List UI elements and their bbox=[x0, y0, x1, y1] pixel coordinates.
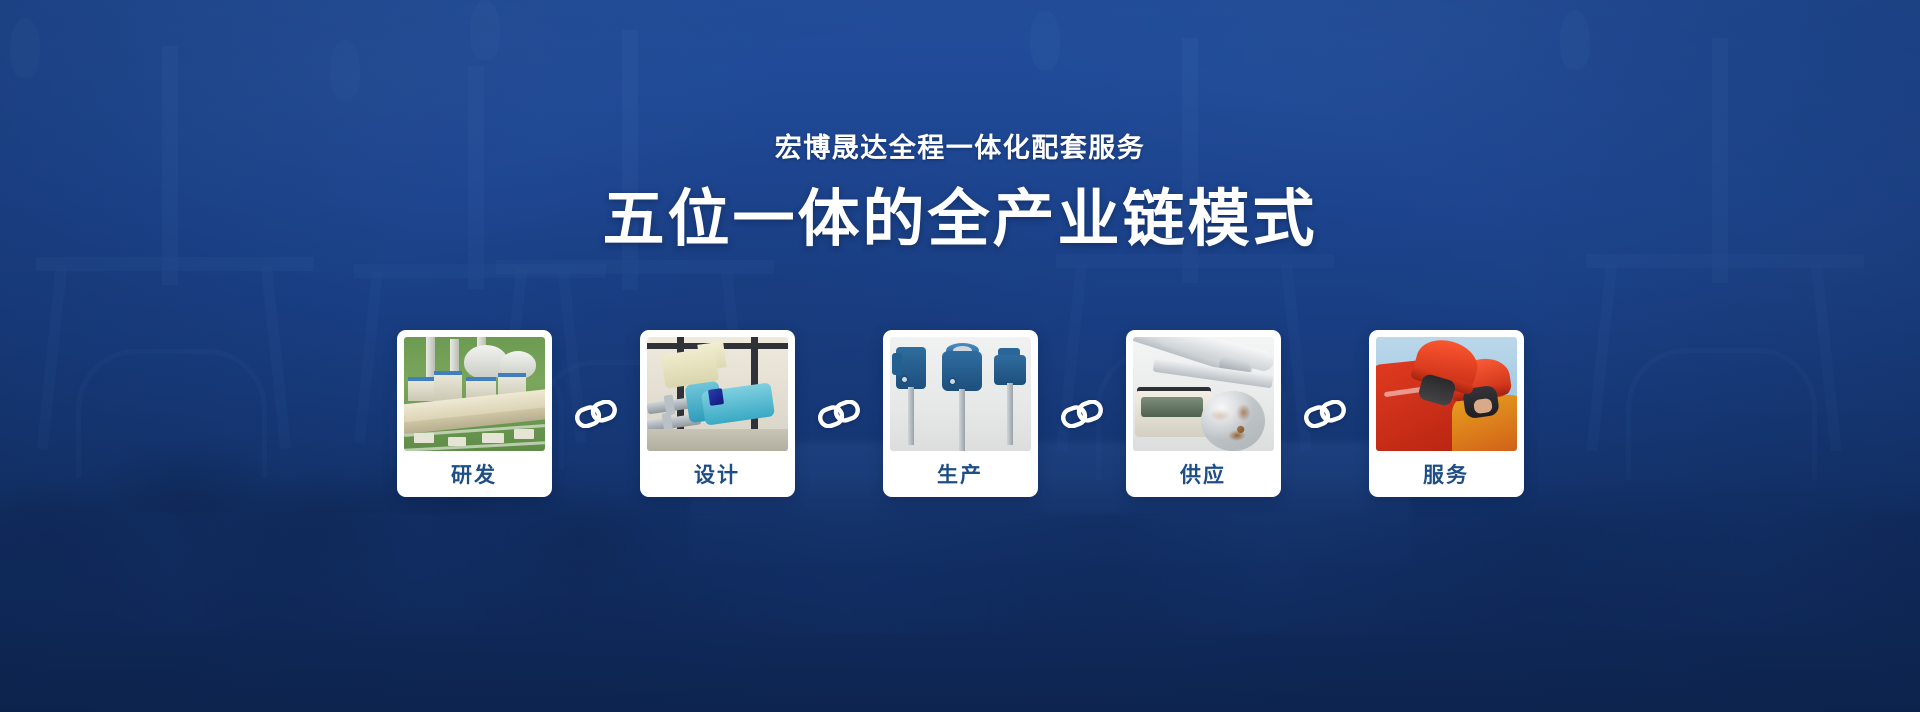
chain-card-thumbnail bbox=[647, 337, 788, 451]
chain-link-connector-1 bbox=[795, 330, 883, 497]
hero-banner: 宏博晟达全程一体化配套服务 五位一体的全产业链模式 研发 bbox=[0, 0, 1920, 712]
value-chain-row: 研发 bbox=[0, 330, 1920, 497]
chain-card-label: 研发 bbox=[404, 451, 545, 497]
chain-link-icon bbox=[817, 400, 861, 428]
chain-card-3[interactable]: 供应 bbox=[1126, 330, 1281, 497]
chain-link-connector-0 bbox=[552, 330, 640, 497]
chain-card-label: 供应 bbox=[1133, 451, 1274, 497]
chain-card-1[interactable]: 设计 bbox=[640, 330, 795, 497]
chain-card-2[interactable]: 生产 bbox=[883, 330, 1038, 497]
chain-link-icon bbox=[574, 400, 618, 428]
chain-link-connector-3 bbox=[1281, 330, 1369, 497]
chain-card-label: 生产 bbox=[890, 451, 1031, 497]
chain-card-thumbnail bbox=[404, 337, 545, 451]
banner-content: 宏博晟达全程一体化配套服务 五位一体的全产业链模式 研发 bbox=[0, 0, 1920, 712]
chain-link-connector-2 bbox=[1038, 330, 1126, 497]
chain-link-icon bbox=[1303, 400, 1347, 428]
chain-card-label: 设计 bbox=[647, 451, 788, 497]
chain-card-0[interactable]: 研发 bbox=[397, 330, 552, 497]
chain-card-thumbnail bbox=[890, 337, 1031, 451]
chain-card-thumbnail bbox=[1376, 337, 1517, 451]
chain-link-icon bbox=[1060, 400, 1104, 428]
chain-card-4[interactable]: 服务 bbox=[1369, 330, 1524, 497]
banner-title: 五位一体的全产业链模式 bbox=[0, 168, 1920, 258]
chain-card-thumbnail bbox=[1133, 337, 1274, 451]
chain-card-label: 服务 bbox=[1376, 451, 1517, 497]
banner-subtitle: 宏博晟达全程一体化配套服务 bbox=[0, 126, 1920, 165]
